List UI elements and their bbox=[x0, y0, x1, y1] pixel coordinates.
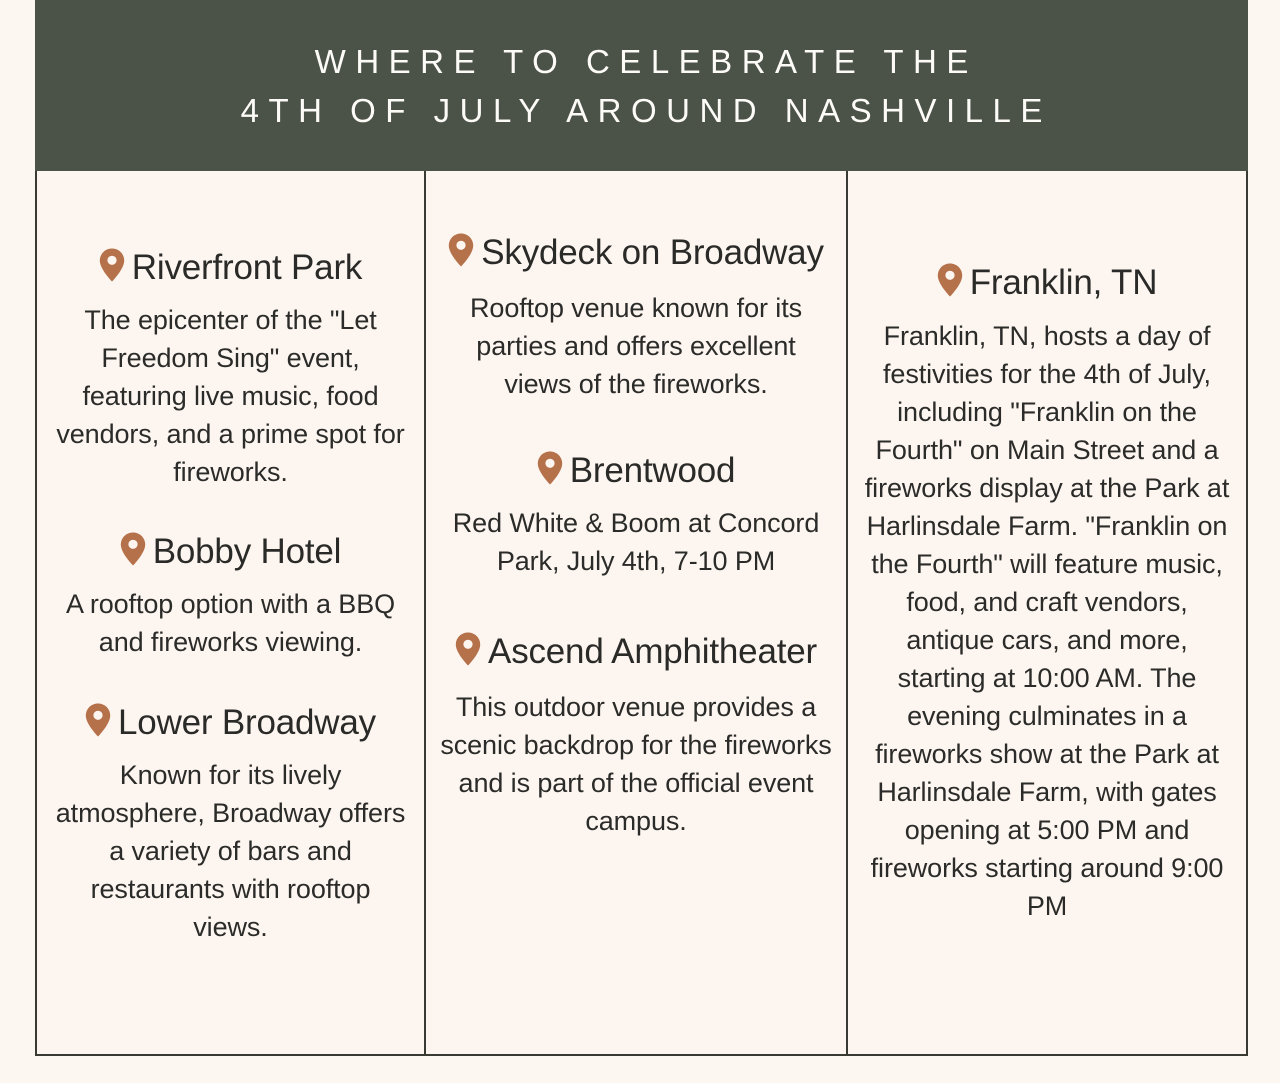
columns-container: Riverfront Park The epicenter of the "Le… bbox=[37, 171, 1246, 1054]
venue-title-text: Bobby Hotel bbox=[153, 532, 341, 571]
map-pin-icon bbox=[448, 233, 474, 275]
header-title-line-1: Where to Celebrate the bbox=[305, 37, 978, 86]
venue-title-text: Ascend Amphitheater bbox=[488, 632, 817, 671]
venue-description: Franklin, TN, hosts a day of festivities… bbox=[862, 317, 1232, 925]
venue-description: This outdoor venue provides a scenic bac… bbox=[440, 688, 832, 840]
venue-entry: Ascend Amphitheater This outdoor venue p… bbox=[440, 632, 832, 840]
map-pin-icon bbox=[99, 248, 125, 290]
venue-title-text: Franklin, TN bbox=[970, 263, 1158, 302]
venue-entry: Brentwood Red White & Boom at Concord Pa… bbox=[440, 451, 832, 580]
venue-description: Red White & Boom at Concord Park, July 4… bbox=[440, 504, 832, 580]
map-pin-icon bbox=[85, 703, 111, 745]
venue-title: Franklin, TN bbox=[862, 263, 1232, 305]
map-pin-icon bbox=[937, 263, 963, 305]
venue-title-text: Riverfront Park bbox=[132, 248, 362, 287]
infographic-card: Where to Celebrate the 4th of July Aroun… bbox=[35, 0, 1248, 1056]
venue-title: Lower Broadway bbox=[51, 703, 410, 745]
venue-description: The epicenter of the "Let Freedom Sing" … bbox=[51, 301, 410, 491]
column-1: Riverfront Park The epicenter of the "Le… bbox=[37, 171, 424, 1054]
header-title-line-2: 4th of July Around Nashville bbox=[231, 86, 1052, 135]
venue-entry: Bobby Hotel A rooftop option with a BBQ … bbox=[51, 532, 410, 661]
venue-title: Riverfront Park bbox=[51, 248, 410, 290]
map-pin-icon bbox=[455, 632, 481, 674]
header-banner: Where to Celebrate the 4th of July Aroun… bbox=[35, 0, 1248, 171]
venue-entry: Skydeck on Broadway Rooftop venue known … bbox=[440, 233, 832, 403]
venue-description: Known for its lively atmosphere, Broadwa… bbox=[51, 756, 410, 946]
venue-description: A rooftop option with a BBQ and firework… bbox=[51, 585, 410, 661]
venue-title: Ascend Amphitheater bbox=[440, 632, 832, 674]
column-2: Skydeck on Broadway Rooftop venue known … bbox=[424, 171, 848, 1054]
venue-description: Rooftop venue known for its parties and … bbox=[440, 289, 832, 403]
venue-title-text: Brentwood bbox=[570, 451, 736, 490]
column-3: Franklin, TN Franklin, TN, hosts a day o… bbox=[848, 171, 1246, 1054]
venue-title: Brentwood bbox=[440, 451, 832, 493]
map-pin-icon bbox=[120, 532, 146, 574]
venue-title: Skydeck on Broadway bbox=[440, 233, 832, 275]
venue-title-text: Skydeck on Broadway bbox=[481, 233, 824, 272]
venue-entry: Lower Broadway Known for its lively atmo… bbox=[51, 703, 410, 946]
venue-title: Bobby Hotel bbox=[51, 532, 410, 574]
venue-entry: Riverfront Park The epicenter of the "Le… bbox=[51, 248, 410, 491]
venue-title-text: Lower Broadway bbox=[118, 703, 376, 742]
map-pin-icon bbox=[537, 451, 563, 493]
venue-entry: Franklin, TN Franklin, TN, hosts a day o… bbox=[862, 263, 1232, 925]
